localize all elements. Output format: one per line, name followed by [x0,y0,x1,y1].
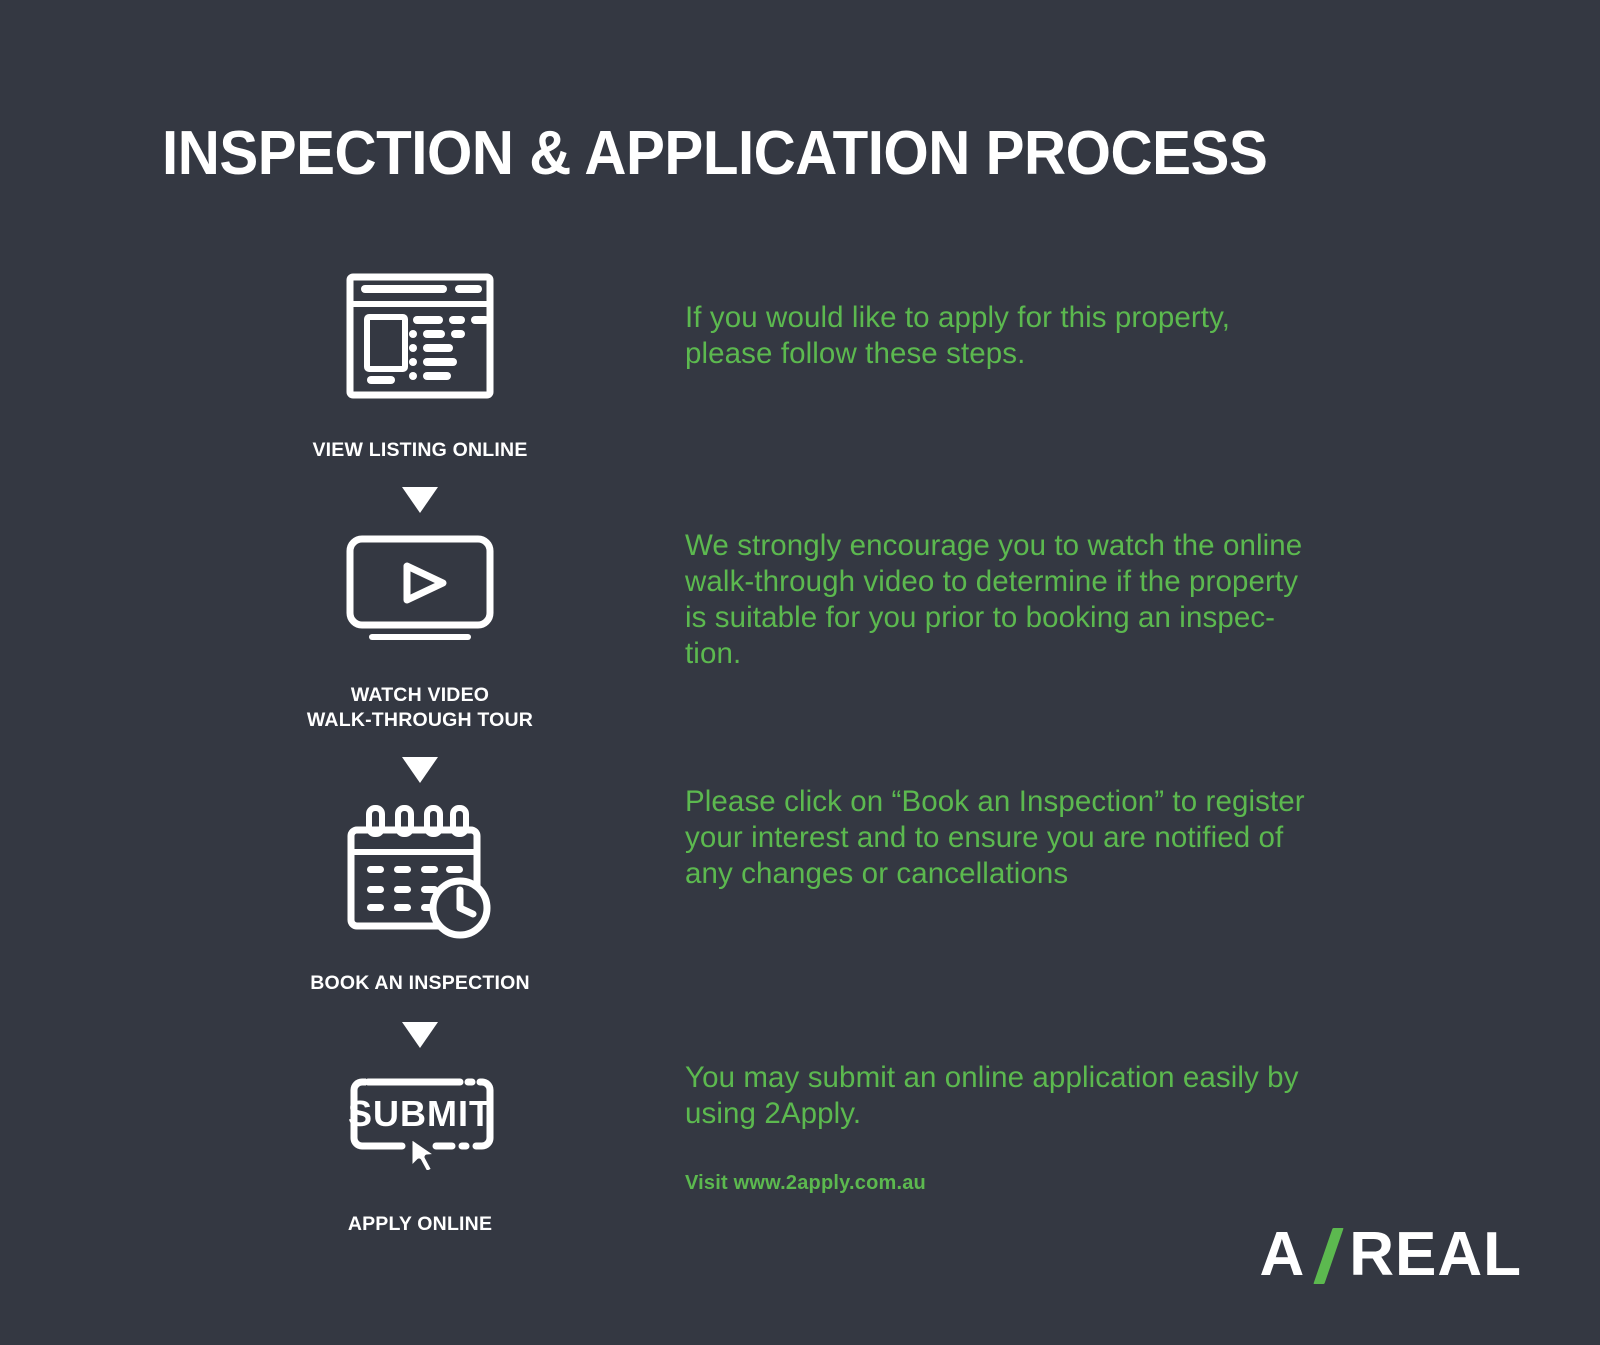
calendar-clock-icon [345,791,495,949]
step-apply-online[interactable]: SUBMIT APPLY ONLINE [275,1060,565,1237]
step-book-an-inspection[interactable]: BOOK AN INSPECTION [275,791,565,996]
page-title: INSPECTION & APPLICATION PROCESS [162,118,1346,189]
brand-logo: A REAL [1259,1219,1522,1290]
browser-listing-icon [345,262,495,410]
note-book-inspection: Please click on “Book an Inspection” to … [685,784,1305,892]
step-label: APPLY ONLINE [348,1212,492,1237]
submit-button-cursor-icon: SUBMIT [340,1060,500,1176]
svg-text:SUBMIT: SUBMIT [348,1093,492,1134]
logo-wordmark: REAL [1349,1219,1522,1290]
step-watch-video-walk-through-tour[interactable]: WATCH VIDEO WALK-THROUGH TOUR [275,525,565,733]
down-triangle-icon [275,757,565,783]
note-watch-video: We strongly encourage you to watch the o… [685,528,1302,672]
step-label: VIEW LISTING ONLINE [312,438,527,463]
logo-letter-a: A [1259,1219,1305,1290]
process-steps-column: VIEW LISTING ONLINE WATCH VIDEO WALK-THR… [275,262,565,1237]
logo-slash-icon [1315,1226,1345,1284]
down-triangle-icon [275,1022,565,1048]
note-apply-online: You may submit an online application eas… [685,1060,1299,1132]
video-monitor-play-icon [344,525,496,653]
visit-link[interactable]: Visit www.2apply.com.au [685,1172,926,1195]
step-view-listing-online[interactable]: VIEW LISTING ONLINE [275,262,565,463]
note-apply-intro: If you would like to apply for this prop… [685,300,1230,372]
step-label: WATCH VIDEO WALK-THROUGH TOUR [307,683,533,733]
step-label: BOOK AN INSPECTION [310,971,530,996]
down-triangle-icon [275,487,565,513]
infographic-page: INSPECTION & APPLICATION PROCESS [0,0,1600,1345]
